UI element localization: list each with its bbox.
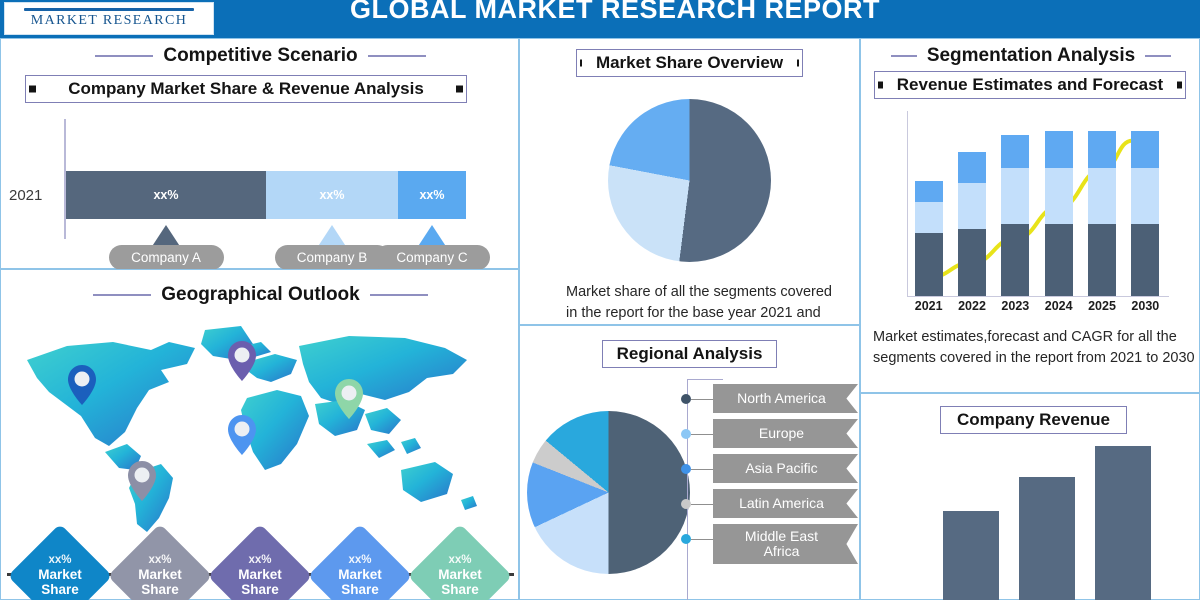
segmentation-bar	[1131, 131, 1159, 296]
europe-pin[interactable]	[227, 340, 257, 382]
regional-analysis-pie	[527, 411, 690, 574]
region-color-dot-icon	[681, 464, 691, 474]
revenue-estimates-box-title: Revenue Estimates and Forecast	[874, 71, 1186, 99]
region-label-ribbon[interactable]: Europe	[713, 419, 858, 448]
segmentation-bar-segment	[1131, 224, 1159, 296]
heading-dash-left-icon	[891, 55, 917, 57]
segmentation-year-label: 2021	[908, 299, 950, 313]
segmentation-bar-segment	[1001, 168, 1029, 225]
company-revenue-bar	[1095, 446, 1151, 600]
segmentation-year-label: 2025	[1081, 299, 1123, 313]
market-share-badge[interactable]: xx%MarketShare	[208, 524, 313, 600]
regional-spine-top-icon	[687, 379, 723, 380]
badge-label-line2: Share	[141, 582, 179, 597]
segmentation-bar-segment	[1088, 224, 1116, 296]
region-leader-line-icon	[691, 469, 713, 470]
logo-rule-icon	[24, 8, 194, 11]
segmentation-bar-segment	[1045, 131, 1073, 168]
heading-dash-left-icon	[93, 294, 151, 296]
badge-label-line1: Market	[438, 567, 482, 582]
cagr-trend-line	[907, 111, 1167, 296]
market-share-segment-b: xx%	[266, 171, 398, 219]
company-revenue-bar	[1019, 477, 1075, 600]
competitive-section-heading: Competitive Scenario	[1, 45, 520, 67]
competitive-year-label: 2021	[9, 187, 42, 204]
revenue-estimates-forecast-chart	[907, 111, 1167, 296]
company-market-share-bar: xx%xx%xx%	[66, 171, 466, 219]
segmentation-bar-segment	[915, 233, 943, 296]
badge-label-line1: Market	[38, 567, 82, 582]
badge-percent: xx%	[148, 554, 171, 567]
region-label-ribbon[interactable]: North America	[713, 384, 858, 413]
company-label-pill[interactable]: Company B	[275, 245, 390, 270]
badge-label-line1: Market	[338, 567, 382, 582]
heading-dash-right-icon	[370, 294, 428, 296]
segmentation-analysis-panel: Segmentation Analysis Revenue Estimates …	[860, 38, 1200, 393]
segmentation-bar-segment	[1131, 131, 1159, 168]
revenue-estimates-title-text: Revenue Estimates and Forecast	[883, 75, 1177, 95]
market-share-segment-c: xx%	[398, 171, 466, 219]
segmentation-bar-segment	[1001, 224, 1029, 296]
badge-percent: xx%	[348, 554, 371, 567]
market-share-badge[interactable]: xx%MarketShare	[308, 524, 413, 600]
segmentation-bar	[1088, 131, 1116, 296]
segmentation-bar-segment	[915, 181, 943, 203]
market-share-overview-box-title: Market Share Overview	[576, 49, 803, 77]
market-share-overview-panel: Market Share Overview Market share of al…	[519, 38, 860, 325]
segmentation-bar-segment	[958, 183, 986, 229]
segmentation-year-labels: 202120222023202420252030	[907, 299, 1169, 317]
segmentation-section-heading: Segmentation Analysis	[861, 45, 1200, 67]
company-revenue-bar	[943, 511, 999, 600]
segmentation-bar-segment	[1045, 168, 1073, 225]
middle-east-africa-pin[interactable]	[227, 414, 257, 456]
badge-label-line2: Share	[41, 582, 79, 597]
company-market-share-title-text: Company Market Share & Revenue Analysis	[54, 79, 438, 99]
world-map-svg	[9, 312, 509, 537]
badge-label-line1: Market	[138, 567, 182, 582]
heading-dash-right-icon	[1145, 55, 1171, 57]
competitive-section-title: Competitive Scenario	[163, 45, 357, 67]
segmentation-bar-segment	[915, 202, 943, 232]
badge-label-line2: Share	[441, 582, 479, 597]
market-share-badge[interactable]: xx%MarketShare	[408, 524, 513, 600]
segmentation-section-title: Segmentation Analysis	[927, 45, 1135, 67]
segmentation-year-label: 2024	[1038, 299, 1080, 313]
region-color-dot-icon	[681, 394, 691, 404]
segmentation-year-label: 2030	[1124, 299, 1166, 313]
segmentation-bar	[958, 152, 986, 296]
company-label-pill[interactable]: Company C	[375, 245, 490, 270]
geographical-section-heading: Geographical Outlook	[1, 284, 520, 306]
segmentation-year-label: 2023	[994, 299, 1036, 313]
geographical-section-title: Geographical Outlook	[161, 284, 359, 306]
region-leader-line-icon	[691, 539, 713, 540]
market-share-badge[interactable]: xx%MarketShare	[8, 524, 113, 600]
north-america-pin[interactable]	[67, 364, 97, 406]
segmentation-bar-segment	[958, 152, 986, 182]
segmentation-bar	[1001, 135, 1029, 296]
regional-analysis-box-title: Regional Analysis	[602, 340, 777, 368]
company-market-share-box-title: Company Market Share & Revenue Analysis	[25, 75, 467, 103]
segmentation-bar	[1045, 131, 1073, 296]
badge-label-line2: Share	[341, 582, 379, 597]
segmentation-bar-segment	[1131, 168, 1159, 225]
region-leader-line-icon	[691, 504, 713, 505]
company-revenue-box-title: Company Revenue	[940, 406, 1127, 434]
geographical-outlook-panel: Geographical Outlook	[0, 269, 519, 600]
region-label-ribbon[interactable]: Latin America	[713, 489, 858, 518]
region-color-dot-icon	[681, 429, 691, 439]
segmentation-bar-segment	[1045, 224, 1073, 296]
market-share-overview-title-text: Market Share Overview	[582, 53, 797, 73]
asia-pacific-pin[interactable]	[334, 378, 364, 420]
badge-percent: xx%	[48, 554, 71, 567]
regional-analysis-title-text: Regional Analysis	[603, 344, 777, 364]
competitive-scenario-panel: Competitive Scenario Company Market Shar…	[0, 38, 519, 269]
region-leader-line-icon	[691, 434, 713, 435]
badge-label-line2: Share	[241, 582, 279, 597]
segmentation-caption: Market estimates,forecast and CAGR for a…	[873, 327, 1195, 369]
latin-america-pin[interactable]	[127, 460, 157, 502]
heading-dash-left-icon	[95, 55, 153, 57]
logo-text: MARKET RESEARCH	[31, 13, 187, 29]
segmentation-bar-segment	[1088, 131, 1116, 168]
regional-spine-icon	[687, 379, 688, 600]
market-share-segment-a: xx%	[66, 171, 266, 219]
company-label-pill[interactable]: Company A	[109, 245, 224, 270]
market-share-overview-pie	[608, 99, 771, 262]
segmentation-bar	[915, 181, 943, 296]
market-share-badge-row: xx%MarketSharexx%MarketSharexx%MarketSha…	[1, 523, 520, 599]
region-label-ribbon[interactable]: Asia Pacific	[713, 454, 858, 483]
company-revenue-panel: Company Revenue	[860, 393, 1200, 600]
badge-label-line1: Market	[238, 567, 282, 582]
badge-percent: xx%	[448, 554, 471, 567]
company-revenue-title-text: Company Revenue	[943, 410, 1124, 430]
segmentation-bar-segment	[1001, 135, 1029, 168]
badge-percent: xx%	[248, 554, 271, 567]
segmentation-bar-segment	[958, 229, 986, 296]
segmentation-year-label: 2022	[951, 299, 993, 313]
brand-logo[interactable]: MARKET RESEARCH	[4, 2, 214, 35]
region-leader-line-icon	[691, 399, 713, 400]
regional-analysis-panel: Regional Analysis North AmericaEuropeAsi…	[519, 325, 860, 600]
heading-dash-right-icon	[368, 55, 426, 57]
page-title: GLOBAL MARKET RESEARCH REPORT	[215, 0, 1015, 25]
market-share-badge[interactable]: xx%MarketShare	[108, 524, 213, 600]
segmentation-bar-segment	[1088, 168, 1116, 225]
company-revenue-chart	[943, 446, 1168, 600]
segmentation-x-axis	[907, 296, 1169, 297]
world-map	[9, 312, 509, 537]
region-color-dot-icon	[681, 499, 691, 509]
region-label-ribbon[interactable]: Middle EastAfrica	[713, 524, 858, 564]
region-color-dot-icon	[681, 534, 691, 544]
